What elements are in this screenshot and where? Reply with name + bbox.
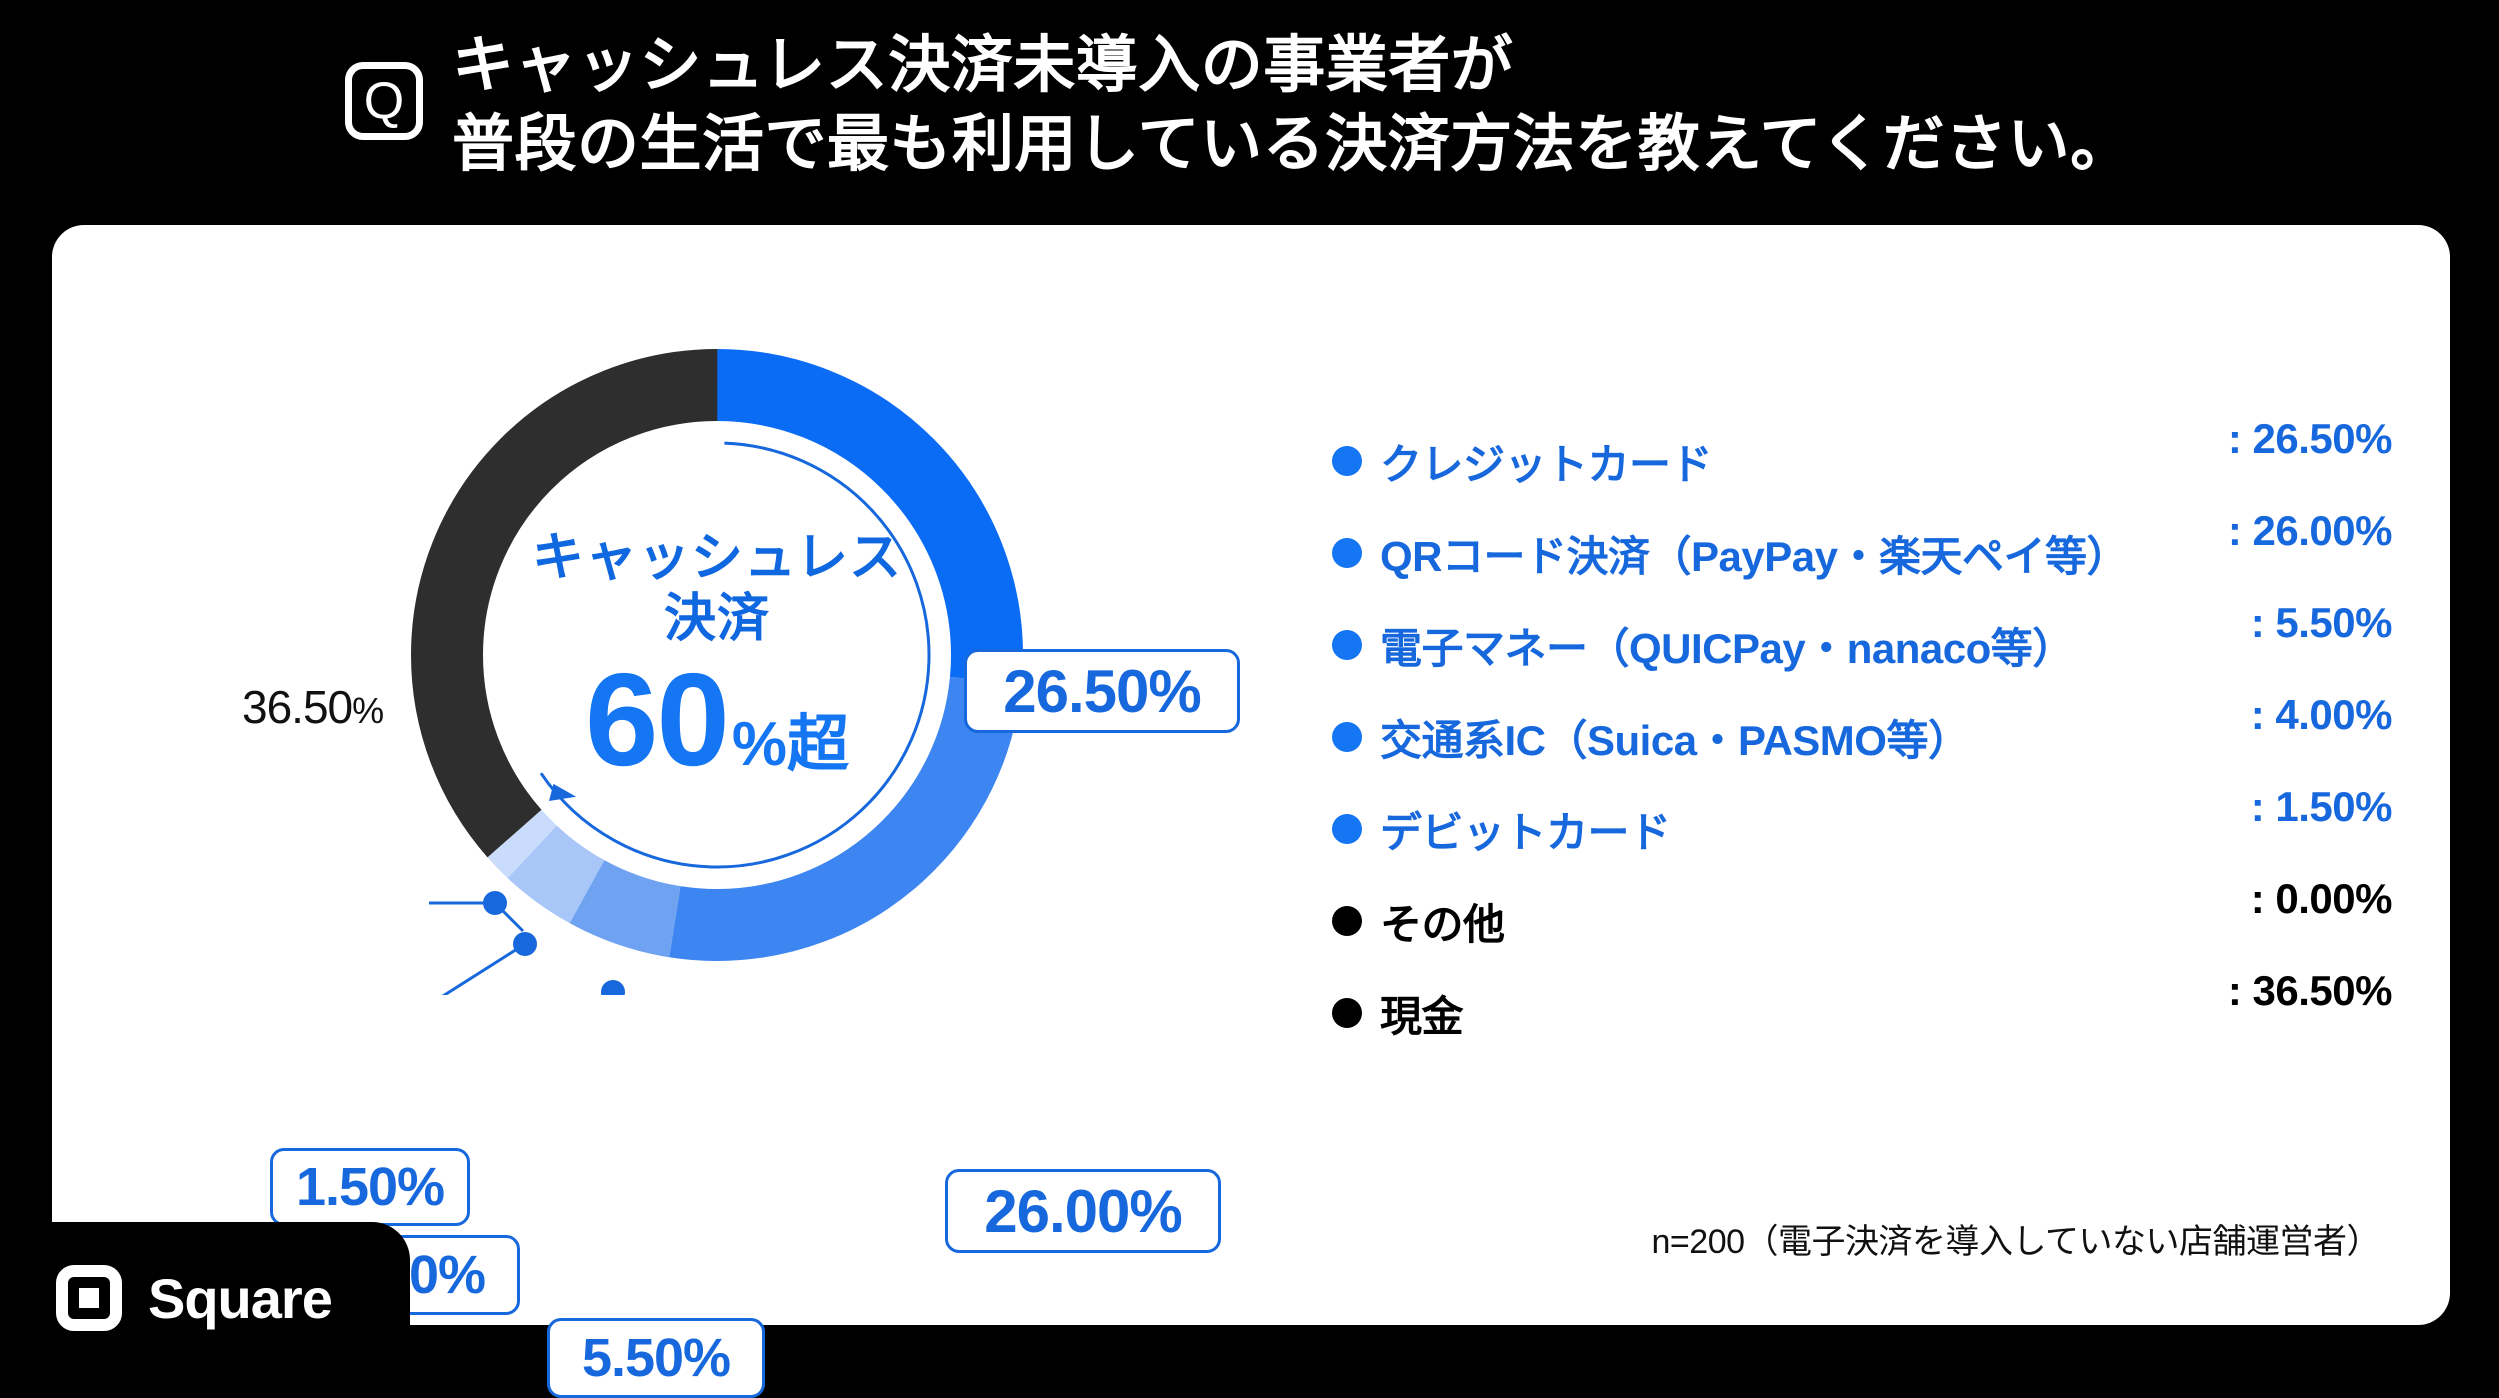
legend-label: デビットカード — [1380, 799, 1671, 860]
title-line-2: 普段の生活で最も利用している決済方法を教えてください。 — [452, 105, 2402, 184]
legend-value: : 4.00% — [2251, 691, 2392, 739]
callout-credit: 26.50% — [964, 649, 1240, 733]
q-badge-icon: Q — [345, 62, 423, 140]
legend-label: 交通系IC（Suica・PASMO等） — [1380, 707, 1969, 768]
legend-dot-icon — [1332, 722, 1362, 752]
square-logo-icon — [56, 1265, 122, 1331]
callout-cash: 36.50% — [242, 680, 383, 734]
legend-item-qr: QRコード決済（PayPay・楽天ペイ等） : 26.00% — [1332, 507, 2392, 599]
page-title: キャッシュレス決済未導入の事業者が 普段の生活で最も利用している決済方法を教えて… — [452, 26, 2402, 185]
chart-card: キャッシュレス 決済 60 %超 26.50% 26.00% 5.50% 4.0… — [52, 225, 2450, 1325]
legend-value: : 26.00% — [2228, 507, 2392, 555]
legend-label: クレジットカード — [1380, 431, 1712, 492]
legend: クレジットカード : 26.50% QRコード決済（PayPay・楽天ペイ等） … — [1332, 415, 2392, 1059]
legend-value: : 5.50% — [2251, 599, 2392, 647]
legend-label: 電子マネー（QUICPay・nanaco等） — [1380, 615, 2074, 676]
legend-item-transit: 交通系IC（Suica・PASMO等） : 4.00% — [1332, 691, 2392, 783]
q-badge-letter: Q — [364, 75, 404, 127]
legend-item-credit: クレジットカード : 26.50% — [1332, 415, 2392, 507]
dot-debit — [483, 891, 507, 915]
legend-item-emoney: 電子マネー（QUICPay・nanaco等） : 5.50% — [1332, 599, 2392, 691]
header: Q キャッシュレス決済未導入の事業者が 普段の生活で最も利用している決済方法を教… — [0, 0, 2499, 225]
donut-chart-svg — [377, 315, 1057, 995]
legend-label: その他 — [1380, 891, 1505, 952]
legend-value: : 0.00% — [2251, 875, 2392, 923]
square-logo-text: Square — [148, 1266, 332, 1331]
legend-dot-icon — [1332, 630, 1362, 660]
footnote: n=200（電子決済を導入していない店舗運営者） — [1652, 1214, 2380, 1263]
dot-transit — [513, 932, 537, 956]
callout-debit: 1.50% — [270, 1148, 470, 1226]
legend-item-cash: 現金 : 36.50% — [1332, 967, 2392, 1059]
legend-dot-icon — [1332, 906, 1362, 936]
legend-label: 現金 — [1380, 983, 1463, 1044]
legend-label: QRコード決済（PayPay・楽天ペイ等） — [1380, 523, 2128, 584]
legend-dot-icon — [1332, 998, 1362, 1028]
dot-emoney — [601, 980, 625, 995]
callout-cash-value: 36.50 — [242, 681, 352, 733]
square-logo: Square — [0, 1222, 410, 1374]
legend-item-debit: デビットカード : 1.50% — [1332, 783, 2392, 875]
callout-cash-percent: % — [352, 690, 383, 731]
donut-chart: キャッシュレス 決済 60 %超 — [377, 315, 1057, 995]
callout-emoney: 5.50% — [547, 1318, 765, 1398]
cashless-arc — [498, 436, 937, 875]
legend-value: : 1.50% — [2251, 783, 2392, 831]
callout-qr: 26.00% — [945, 1169, 1221, 1253]
legend-item-other: その他 : 0.00% — [1332, 875, 2392, 967]
legend-value: : 26.50% — [2228, 415, 2392, 463]
title-line-1: キャッシュレス決済未導入の事業者が — [452, 26, 2402, 105]
legend-value: : 36.50% — [2228, 967, 2392, 1015]
legend-dot-icon — [1332, 446, 1362, 476]
legend-dot-icon — [1332, 538, 1362, 568]
legend-dot-icon — [1332, 814, 1362, 844]
